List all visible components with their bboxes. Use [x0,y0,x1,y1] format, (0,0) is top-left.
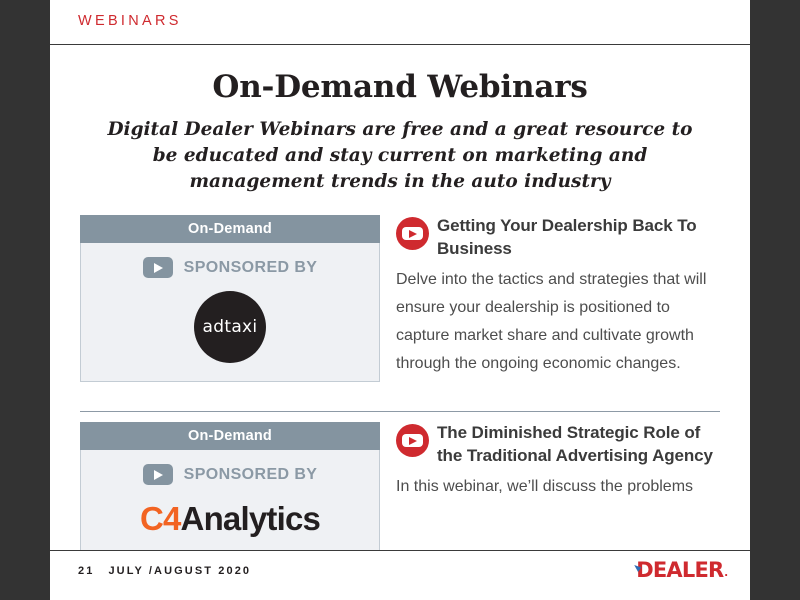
play-icon[interactable] [143,464,173,485]
sponsor-logo: C4Analytics [81,498,379,538]
article-header: On-Demand Webinars Digital Dealer Webina… [50,45,750,195]
sponsored-by-row: SPONSORED BY [81,257,379,278]
play-triangle-icon [154,263,163,273]
webinar-title[interactable]: The Diminished Strategic Role of the Tra… [396,422,720,467]
page-viewer: WEBINARS On-Demand Webinars Digital Deal… [0,0,800,600]
webinar-description: Delve into the tactics and strategies th… [396,266,720,378]
youtube-play-icon[interactable] [396,424,429,457]
webinar-list: On-Demand SPONSORED BY adtaxi [50,205,750,557]
dealer-logo-text: DEALER [636,560,723,581]
thumbnail-body: SPONSORED BY C4Analytics [81,450,379,556]
magazine-page: WEBINARS On-Demand Webinars Digital Deal… [50,0,750,600]
sponsored-by-row: SPONSORED BY [81,464,379,485]
page-number: 21 [78,565,94,577]
dealer-logo: DEALER . [634,560,728,581]
folio: 21JULY /AUGUST 2020 [78,565,251,577]
webinar-thumbnail[interactable]: On-Demand SPONSORED BY C4Analytics [80,422,380,557]
issue-date: JULY /AUGUST 2020 [108,565,251,577]
adtaxi-logo-text: adtaxi [203,317,258,337]
article-deck: Digital Dealer Webinars are free and a g… [50,104,750,195]
c4-logo-word: Analytics [181,500,321,537]
webinar-details: The Diminished Strategic Role of the Tra… [380,422,720,501]
webinar-details: Getting Your Dealership Back To Business… [380,215,720,378]
sponsor-logo: adtaxi [81,291,379,363]
status-badge: On-Demand [80,215,380,243]
page-title: On-Demand Webinars [50,45,750,104]
running-head-label: WEBINARS [78,13,182,29]
running-head: WEBINARS [50,0,750,45]
c4-logo-mark: C4 [140,500,181,537]
page-footer: 21JULY /AUGUST 2020 DEALER . [50,550,750,600]
footer-divider [50,550,750,551]
webinar-description: In this webinar, we’ll discuss the probl… [396,473,720,501]
webinar-item[interactable]: On-Demand SPONSORED BY C4Analytics [50,412,750,557]
c4-analytics-logo: C4Analytics [140,502,320,535]
webinar-thumbnail[interactable]: On-Demand SPONSORED BY adtaxi [80,215,380,382]
sponsored-by-label: SPONSORED BY [184,259,318,277]
adtaxi-logo: adtaxi [194,291,266,363]
play-triangle-icon [154,470,163,480]
dealer-logo-dot: . [724,563,728,581]
webinar-item[interactable]: On-Demand SPONSORED BY adtaxi [50,205,750,382]
status-badge: On-Demand [80,422,380,450]
thumbnail-body: SPONSORED BY adtaxi [81,243,379,381]
play-icon[interactable] [143,257,173,278]
sponsored-by-label: SPONSORED BY [184,466,318,484]
youtube-play-icon[interactable] [396,217,429,250]
webinar-title[interactable]: Getting Your Dealership Back To Business [396,215,720,260]
